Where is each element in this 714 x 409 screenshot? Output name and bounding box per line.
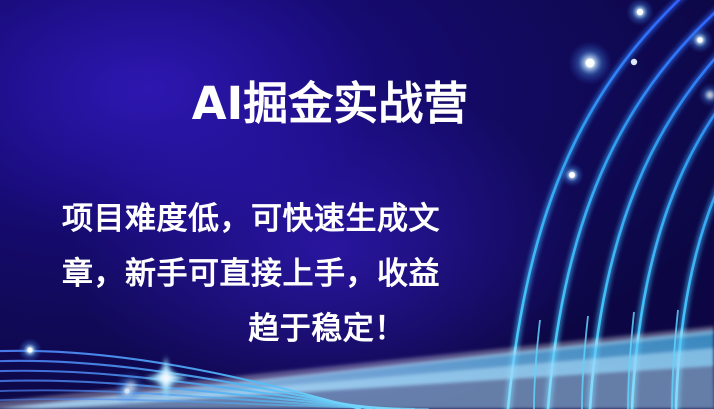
promo-banner: AI掘金实战营 项目难度低，可快速生成文 章，新手可直接上手，收益 趋于稳定！: [0, 0, 714, 409]
text-layer: AI掘金实战营 项目难度低，可快速生成文 章，新手可直接上手，收益 趋于稳定！: [0, 0, 714, 409]
banner-subtitle: 项目难度低，可快速生成文 章，新手可直接上手，收益 趋于稳定！: [62, 192, 592, 357]
subtitle-line-2: 章，新手可直接上手，收益: [62, 247, 592, 302]
subtitle-line-1: 项目难度低，可快速生成文: [62, 192, 592, 247]
banner-title: AI掘金实战营: [0, 76, 660, 132]
subtitle-line-3: 趋于稳定！: [62, 302, 592, 357]
